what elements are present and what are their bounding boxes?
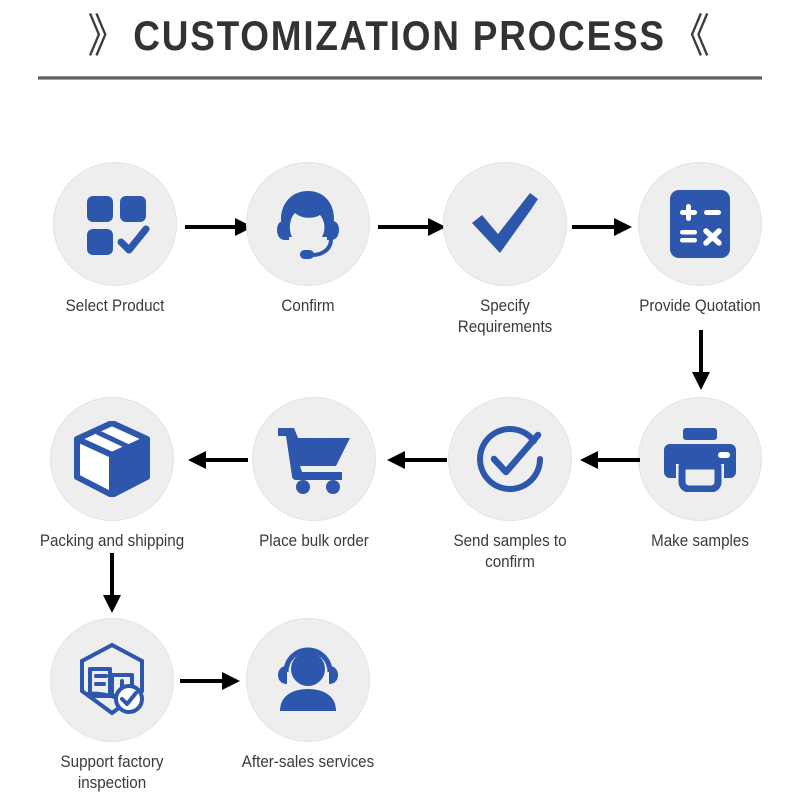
flow-step-label: After-sales services — [234, 752, 381, 773]
flow-step-specify-requirements[interactable]: Specify Requirements — [425, 162, 585, 338]
flow-step-icon-circle — [50, 397, 174, 521]
calculator-icon — [667, 187, 733, 261]
circle-check-icon — [472, 421, 548, 497]
flow-step-confirm[interactable]: Confirm — [228, 162, 388, 317]
checkmark-icon — [468, 189, 542, 259]
flow-step-send-samples-to-confirm[interactable]: Send samples to confirm — [430, 397, 590, 573]
flow-step-icon-circle — [443, 162, 567, 286]
flow-step-after-sales-services[interactable]: After-sales services — [228, 618, 388, 773]
headset-agent-icon — [268, 185, 348, 263]
flow-step-support-factory-inspection[interactable]: Support factory inspection — [32, 618, 192, 794]
printer-icon — [662, 426, 738, 492]
flow-step-label: Send samples to confirm — [436, 531, 583, 573]
chevron-left-decoration-icon: 《 — [670, 8, 712, 64]
headphones-person-icon — [271, 645, 345, 715]
page-title: 》CUSTOMIZATION PROCESS《 — [0, 8, 800, 64]
connector-arrow-left-2 — [385, 448, 447, 472]
flow-step-icon-circle — [50, 618, 174, 742]
flow-step-packing-and-shipping[interactable]: Packing and shipping — [32, 397, 192, 552]
page-title-label: CUSTOMIZATION PROCESS — [134, 12, 667, 59]
chevron-right-decoration-icon: 》 — [88, 8, 130, 64]
flow-step-icon-circle — [246, 618, 370, 742]
flow-step-icon-circle — [252, 397, 376, 521]
flow-step-icon-circle — [53, 162, 177, 286]
package-box-icon — [73, 421, 151, 497]
flow-step-label: Packing and shipping — [38, 531, 185, 552]
page-title-text: 》CUSTOMIZATION PROCESS《 — [88, 8, 712, 64]
flow-step-icon-circle — [448, 397, 572, 521]
connector-arrow-down-2 — [100, 553, 124, 615]
flow-step-icon-circle — [638, 162, 762, 286]
flow-step-make-samples[interactable]: Make samples — [620, 397, 780, 552]
title-divider — [38, 76, 762, 80]
flow-step-provide-quotation[interactable]: Provide Quotation — [620, 162, 780, 317]
connector-arrow-down-1 — [689, 330, 713, 392]
connector-arrow-left-3 — [186, 448, 248, 472]
flow-step-place-bulk-order[interactable]: Place bulk order — [234, 397, 394, 552]
flow-step-select-product[interactable]: Select Product — [35, 162, 195, 317]
flow-step-label: Confirm — [234, 296, 381, 317]
flow-step-label: Specify Requirements — [431, 296, 578, 338]
flow-step-icon-circle — [638, 397, 762, 521]
flow-step-label: Place bulk order — [240, 531, 387, 552]
flow-step-label: Provide Quotation — [626, 296, 773, 317]
flow-step-label: Select Product — [41, 296, 188, 317]
grid-check-icon — [79, 188, 151, 260]
flow-step-label: Support factory inspection — [38, 752, 185, 794]
flow-step-label: Make samples — [626, 531, 773, 552]
factory-shield-check-icon — [74, 642, 150, 718]
flow-step-icon-circle — [246, 162, 370, 286]
shopping-cart-icon — [276, 424, 352, 494]
